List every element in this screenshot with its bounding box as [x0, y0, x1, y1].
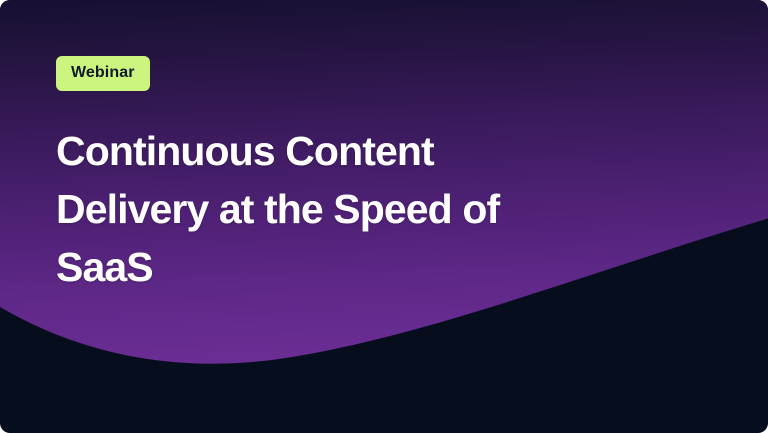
webinar-promo-banner: Webinar Continuous Content Delivery at t…: [0, 0, 768, 433]
category-badge: Webinar: [56, 56, 150, 91]
page-title: Continuous Content Delivery at the Speed…: [56, 122, 666, 296]
banner-content: Webinar Continuous Content Delivery at t…: [0, 0, 768, 296]
